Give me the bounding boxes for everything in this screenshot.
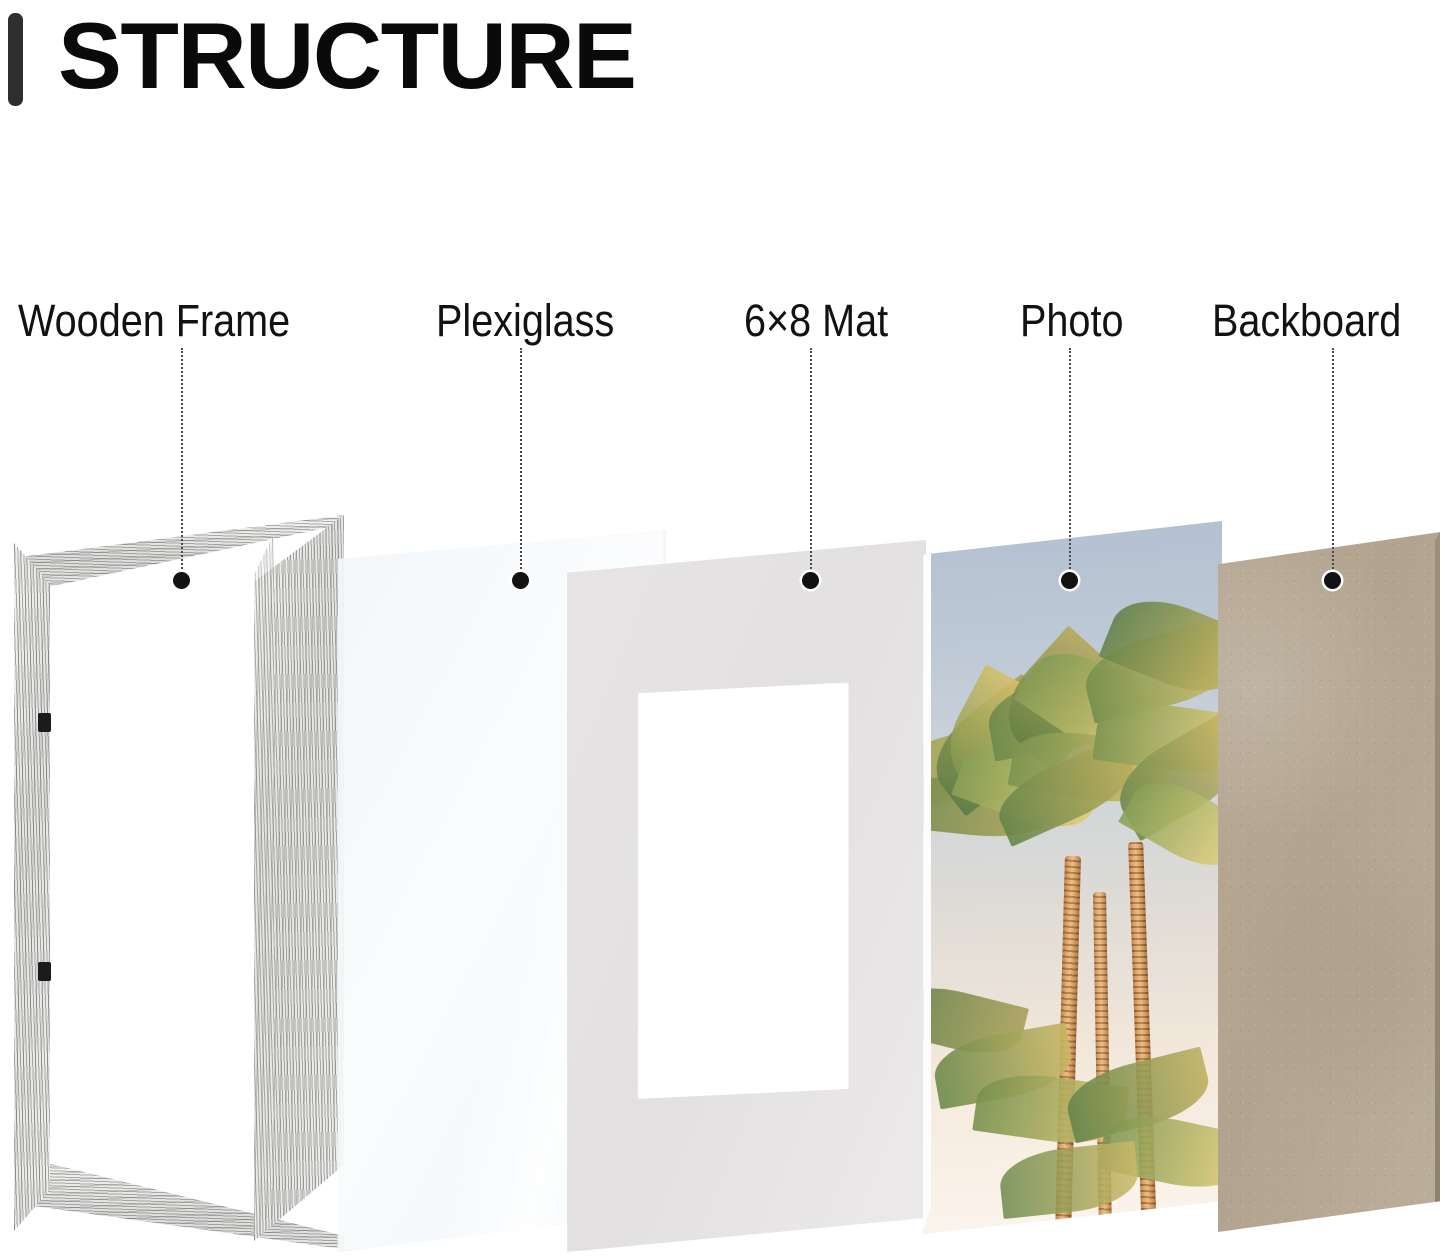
- leader-line-wooden-frame: [181, 348, 183, 580]
- label-mat: 6×8 Mat: [744, 295, 888, 347]
- leader-line-plexiglass: [520, 348, 522, 580]
- leader-dot-wooden-frame: [173, 572, 190, 589]
- layer-wooden-frame: [14, 515, 344, 1257]
- leader-line-photo: [1069, 348, 1071, 580]
- leader-dot-plexiglass: [512, 572, 529, 589]
- label-photo: Photo: [1020, 295, 1123, 347]
- frame-mounting-tab-upper: [38, 713, 51, 732]
- frame-mounting-tab-lower: [38, 962, 51, 981]
- backboard-texture: [1218, 532, 1440, 1232]
- frame-inner-bevel-right: [254, 533, 274, 1233]
- leader-dot-backboard: [1324, 572, 1341, 589]
- label-plexiglass: Plexiglass: [436, 295, 614, 347]
- mat-window-opening: [636, 682, 848, 1099]
- exploded-view-diagram: [0, 0, 1445, 1253]
- leader-line-mat: [810, 348, 812, 580]
- leader-dot-photo: [1061, 572, 1078, 589]
- backboard-right-edge: [1435, 532, 1440, 1232]
- photo-left-edge: [922, 521, 931, 1234]
- layer-mat: [566, 540, 926, 1252]
- label-backboard: Backboard: [1212, 295, 1401, 347]
- layer-photo: [922, 521, 1222, 1234]
- label-wooden-frame: Wooden Frame: [18, 295, 290, 347]
- leader-line-backboard: [1332, 348, 1334, 580]
- leader-dot-mat: [802, 572, 819, 589]
- layer-backboard: [1218, 532, 1440, 1232]
- frame-rail-left: [14, 543, 50, 1231]
